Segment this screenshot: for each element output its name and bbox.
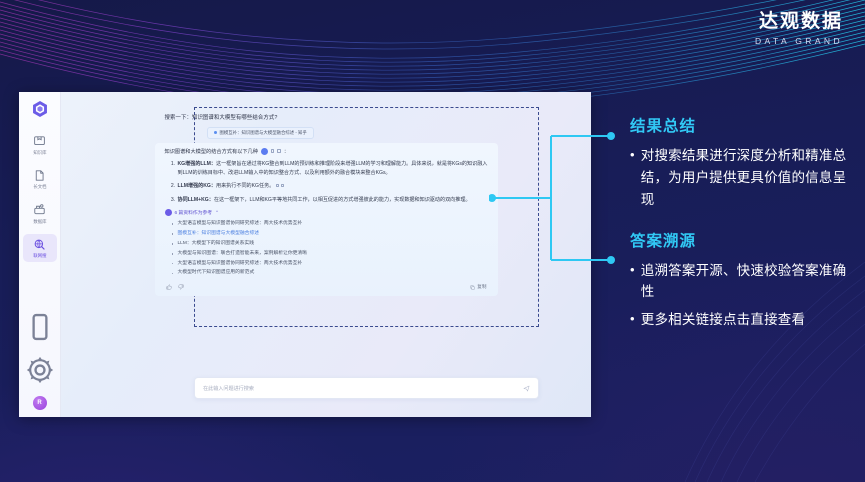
feature-block-traceability: 答案溯源 • 追溯答案开源、快速校验答案准确性 • 更多相关链接点击直接查看 xyxy=(630,229,852,332)
bullet-dot-icon: • xyxy=(630,309,635,331)
mobile-icon xyxy=(23,310,57,344)
sidebar-item-knowledge-base[interactable]: 知识库 xyxy=(23,130,57,159)
settings-gear-icon xyxy=(23,353,57,387)
feature-bullet: • 追溯答案开源、快速校验答案准确性 xyxy=(630,260,852,304)
thumbs-down-icon[interactable] xyxy=(178,284,184,290)
chevron-up-icon: ⌃ xyxy=(215,210,219,216)
avatar[interactable]: R xyxy=(33,396,47,410)
source-list-item[interactable]: 图模互补：知识图谱与大模型融合综述 xyxy=(171,229,488,239)
answer-item-body: 在这一框架下，LLM和KG平等地共同工作，以相互促进的方式增强彼此的能力，实现数… xyxy=(214,197,471,203)
citation-tooltip[interactable]: 图模互补：知识图谱与大模型融合综述 - 知乎 xyxy=(207,127,314,139)
connector-dot-source xyxy=(489,194,496,202)
sidebar-item-web-search[interactable]: 联网搜 xyxy=(23,234,57,263)
citation-dot-icon xyxy=(214,131,217,134)
answer-card-footer: 复制 xyxy=(165,284,488,290)
answer-item-title: 协同LLM+KG： xyxy=(178,197,214,203)
user-query-text: 搜索一下：知识图谱和大模型有哪些结合方式? xyxy=(155,107,498,121)
connector-dot-top xyxy=(607,132,615,140)
brand-name-en: DATA GRAND xyxy=(755,37,843,46)
app-sidebar: 知识库 长文档 数据库 联网搜 xyxy=(19,92,61,417)
answer-lead-colon: ： xyxy=(284,148,289,155)
sources-header-row[interactable]: 6 篇资料作为参考 ⌃ xyxy=(165,209,488,216)
source-list-item[interactable]: 大型语言模型与知识图谱协同研究综述：两大技术优势互补 xyxy=(171,259,488,269)
sidebar-item-mobile[interactable] xyxy=(23,310,57,344)
sidebar-label-knowledge-base: 知识库 xyxy=(33,150,46,156)
sidebar-item-settings[interactable] xyxy=(23,353,57,387)
sources-list: 大型语言模型与知识图谱协同研究综述：两大技术优势互补 图模互补：知识图谱与大模型… xyxy=(165,219,488,278)
answer-lead-row: 知识图谱和大模型的结合方式有以下几种 ： xyxy=(165,148,488,155)
inline-badge-icon-1 xyxy=(271,149,275,153)
source-list-item[interactable]: 大模型与知识图谱：联合打造智能未来，案例解析让你更清晰 xyxy=(171,249,488,259)
citation-tooltip-text: 图模互补：知识图谱与大模型融合综述 - 知乎 xyxy=(220,130,307,136)
answer-lead-text: 知识图谱和大模型的结合方式有以下几种 xyxy=(165,148,258,155)
answer-item-title: LLM增强的KG： xyxy=(178,183,216,189)
knowledge-base-icon xyxy=(33,134,46,147)
feature-descriptions: 结果总结 • 对搜索结果进行深度分析和精准总结，为用户提供更具价值的信息呈现 答… xyxy=(630,114,852,349)
sidebar-label-long-document: 长文档 xyxy=(33,184,46,190)
chat-scroll-area: 搜索一下：知识图谱和大模型有哪些结合方式? 图模互补：知识图谱与大模型融合综述 … xyxy=(155,107,498,296)
send-icon[interactable] xyxy=(523,385,530,392)
feature-bullet-text: 更多相关链接点击直接查看 xyxy=(641,309,852,331)
feature-title: 答案溯源 xyxy=(630,229,852,251)
cursor-pointer-marker xyxy=(261,148,268,155)
inline-badge-icon-2 xyxy=(277,149,281,153)
answer-list-item: KG增强的LLM：这一框架旨在通过将KG整合到LLM的预训练和推理阶段来增强LL… xyxy=(177,160,488,179)
inline-badge-icon-4 xyxy=(281,184,285,188)
document-icon xyxy=(33,169,46,182)
bullet-dot-icon: • xyxy=(630,145,635,211)
sources-bulb-icon xyxy=(165,209,172,216)
feedback-icon-group xyxy=(166,284,184,290)
connector-dot-bottom xyxy=(607,256,615,264)
answer-list-item: 协同LLM+KG：在这一框架下，LLM和KG平等地共同工作，以相互促进的方式增强… xyxy=(177,196,488,205)
answer-item-title: KG增强的LLM： xyxy=(178,161,216,167)
callout-connector xyxy=(489,124,619,272)
brand-name-cn: 达观数据 xyxy=(755,12,843,31)
answer-item-body: 用来执行不同的KG任务。 xyxy=(216,183,274,189)
answer-item-body: 这一框架旨在通过将KG整合到LLM的预训练和推理阶段来增强LLM的学习和理解能力… xyxy=(178,161,488,176)
hexagon-logo-icon xyxy=(32,100,48,118)
feature-bullet: • 对搜索结果进行深度分析和精准总结，为用户提供更具价值的信息呈现 xyxy=(630,145,852,211)
copy-button[interactable]: 复制 xyxy=(470,284,487,290)
brand-logo: 达观数据 DATA GRAND xyxy=(755,12,843,46)
database-icon xyxy=(33,203,46,216)
feature-title: 结果总结 xyxy=(630,114,852,136)
feature-bullet-text: 对搜索结果进行深度分析和精准总结，为用户提供更具价值的信息呈现 xyxy=(641,145,852,211)
copy-icon xyxy=(470,285,475,290)
feature-bullet: • 更多相关链接点击直接查看 xyxy=(630,309,852,331)
answer-card: 知识图谱和大模型的结合方式有以下几种 ： KG增强的LLM：这一框架旨在通过将K… xyxy=(155,143,498,297)
inline-badge-icon-3 xyxy=(276,184,280,188)
source-list-item[interactable]: 大模型时代下知识图谱应用的新范式 xyxy=(171,268,488,278)
sidebar-label-web-search: 联网搜 xyxy=(33,253,46,259)
search-input-bar[interactable]: 在此输入问题进行搜索 xyxy=(194,377,539,399)
sidebar-item-long-document[interactable]: 长文档 xyxy=(23,165,57,194)
source-list-item[interactable]: 大型语言模型与知识图谱协同研究综述：两大技术优势互补 xyxy=(171,219,488,229)
feature-block-summary: 结果总结 • 对搜索结果进行深度分析和精准总结，为用户提供更具价值的信息呈现 xyxy=(630,114,852,211)
source-list-item[interactable]: LLM：大模型下的知识图谱关系实践 xyxy=(171,239,488,249)
thumbs-up-icon[interactable] xyxy=(166,284,172,290)
bullet-dot-icon: • xyxy=(630,260,635,304)
sidebar-label-database: 数据库 xyxy=(33,219,46,225)
copy-button-label: 复制 xyxy=(477,284,486,290)
sidebar-item-database[interactable]: 数据库 xyxy=(23,199,57,228)
search-placeholder-text: 在此输入问题进行搜索 xyxy=(203,385,523,392)
web-search-icon xyxy=(33,238,46,251)
sources-header-text: 6 篇资料作为参考 xyxy=(175,209,213,216)
answer-list-item: LLM增强的KG：用来执行不同的KG任务。 xyxy=(177,182,488,191)
answer-numbered-list: KG增强的LLM：这一框架旨在通过将KG整合到LLM的预训练和推理阶段来增强LL… xyxy=(165,160,488,206)
feature-bullet-text: 追溯答案开源、快速校验答案准确性 xyxy=(641,260,852,304)
